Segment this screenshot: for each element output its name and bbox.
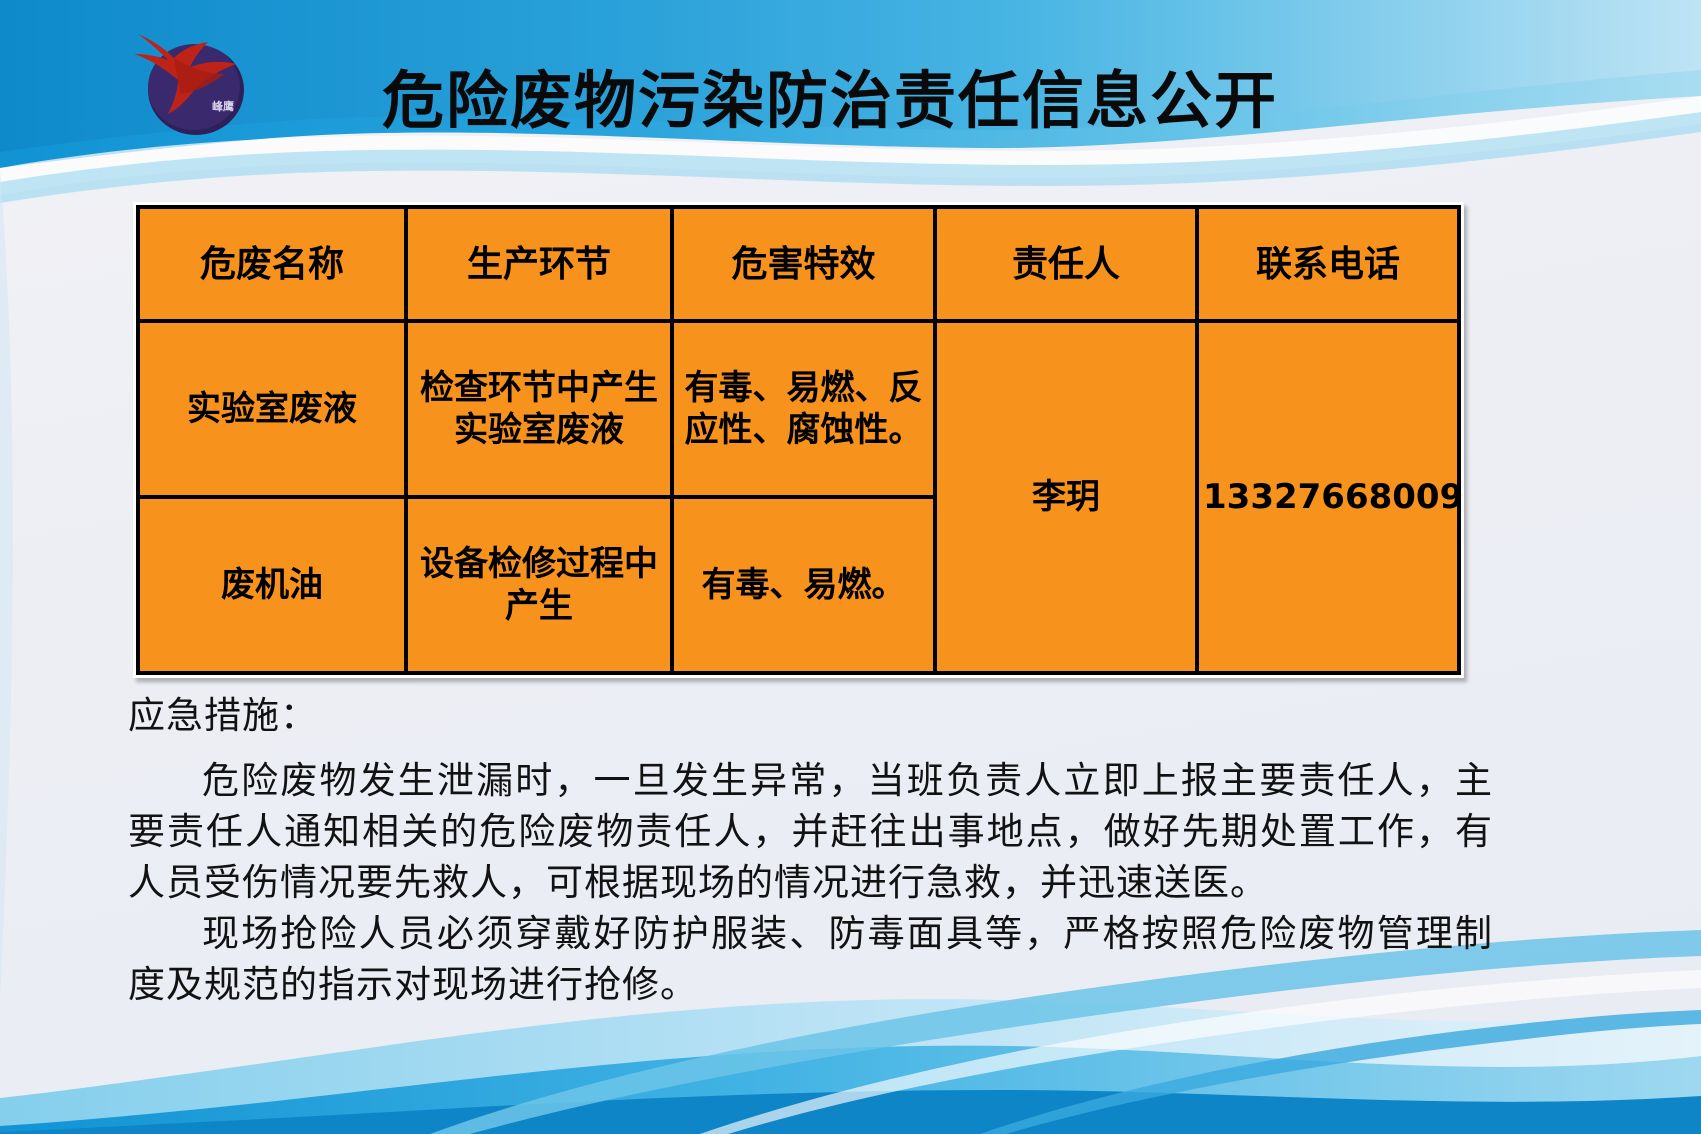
cell-stage-1-line2: 实验室废液	[412, 409, 666, 452]
cell-contact-phone: 13327668009	[1197, 321, 1459, 673]
column-header-phone: 联系电话	[1197, 207, 1459, 321]
cell-hazard-1-line1: 有毒、易燃、反	[678, 367, 929, 410]
column-header-person: 责任人	[935, 207, 1197, 321]
cell-hazard-1: 有毒、易燃、反 应性、腐蚀性。	[672, 321, 935, 497]
cell-stage-2-line1: 设备检修过程中	[412, 543, 666, 586]
hazardous-waste-table-container: 危废名称 生产环节 危害特效 责任人 联系电话 实验室废液 检查环节中产生 实验…	[133, 202, 1464, 678]
emergency-paragraph-2: 现场抢险人员必须穿戴好防护服装、防毒面具等，严格按照危险废物管理制度及规范的指示…	[128, 908, 1493, 1010]
emergency-measures-block: 应急措施： 危险废物发生泄漏时，一旦发生异常，当班负责人立即上报主要责任人，主要…	[128, 690, 1493, 1010]
eagle-logo: 峰鹰	[108, 22, 278, 142]
column-header-waste-name: 危废名称	[138, 207, 406, 321]
slide-canvas: 峰鹰 危险废物污染防治责任信息公开 危废名称 生产环节 危害特效 责任人 联系电…	[0, 0, 1701, 1134]
page-title: 危险废物污染防治责任信息公开	[380, 45, 1280, 145]
svg-text:峰鹰: 峰鹰	[212, 99, 234, 113]
cell-waste-name-1: 实验室废液	[138, 321, 406, 497]
cell-stage-2-line2: 产生	[412, 585, 666, 628]
emergency-measures-heading: 应急措施：	[128, 690, 1493, 741]
emergency-paragraph-1: 危险废物发生泄漏时，一旦发生异常，当班负责人立即上报主要责任人，主要责任人通知相…	[128, 755, 1493, 908]
cell-waste-name-2: 废机油	[138, 497, 406, 673]
table-row: 实验室废液 检查环节中产生 实验室废液 有毒、易燃、反 应性、腐蚀性。 李玥 1…	[138, 321, 1459, 497]
table-header-row: 危废名称 生产环节 危害特效 责任人 联系电话	[138, 207, 1459, 321]
cell-stage-1-line1: 检查环节中产生	[412, 367, 666, 410]
column-header-hazard: 危害特效	[672, 207, 935, 321]
cell-hazard-2: 有毒、易燃。	[672, 497, 935, 673]
cell-hazard-1-line2: 应性、腐蚀性。	[678, 409, 929, 452]
cell-responsible-person: 李玥	[935, 321, 1197, 673]
cell-stage-1: 检查环节中产生 实验室废液	[406, 321, 672, 497]
slide-header: 峰鹰 危险废物污染防治责任信息公开	[0, 0, 1701, 175]
hazardous-waste-table: 危废名称 生产环节 危害特效 责任人 联系电话 实验室废液 检查环节中产生 实验…	[136, 205, 1461, 675]
column-header-stage: 生产环节	[406, 207, 672, 321]
cell-stage-2: 设备检修过程中 产生	[406, 497, 672, 673]
